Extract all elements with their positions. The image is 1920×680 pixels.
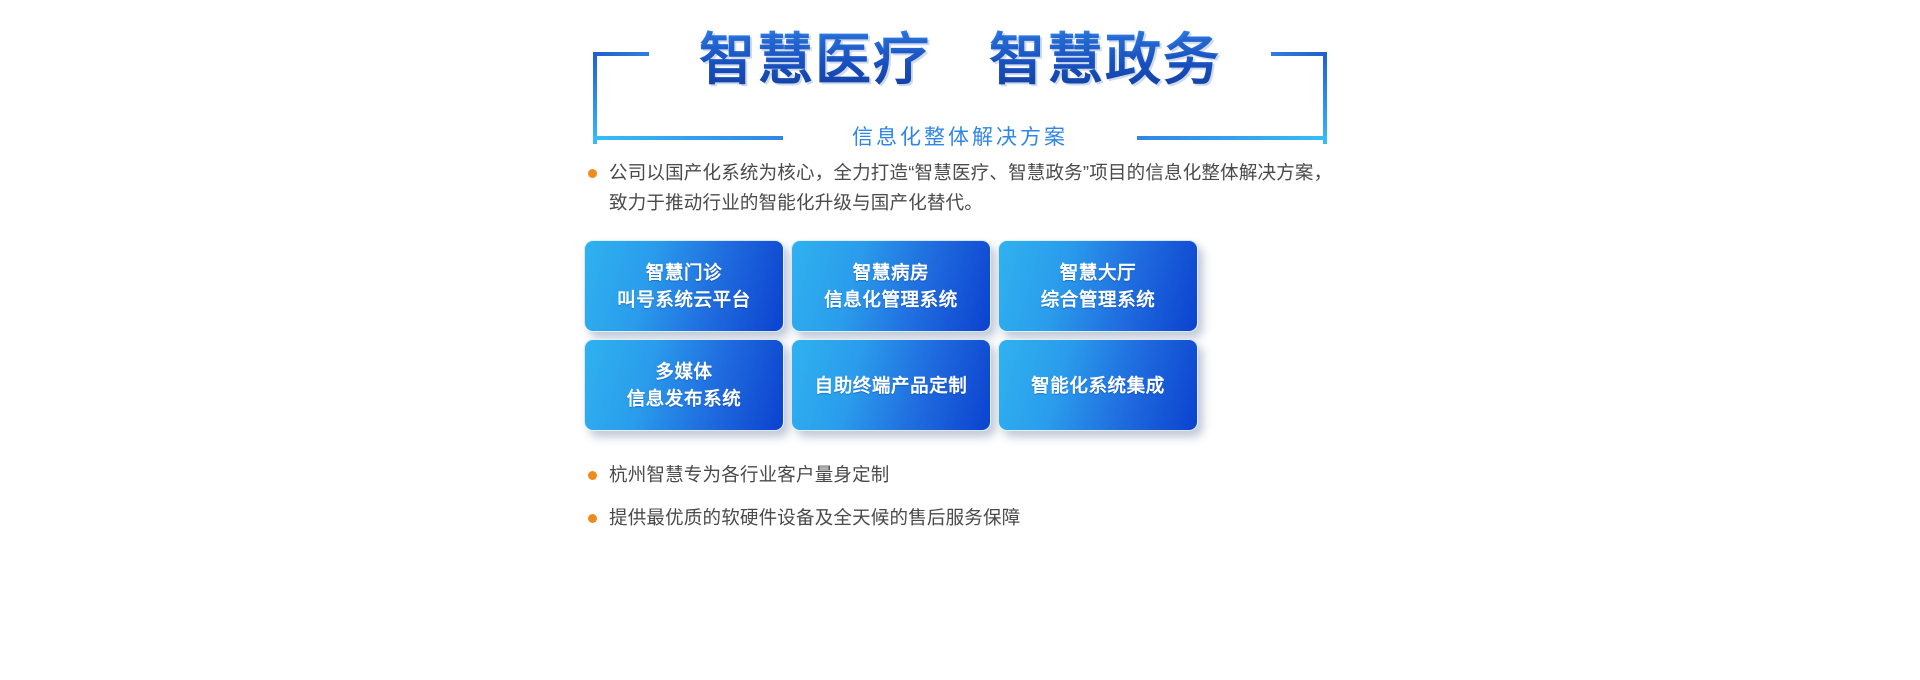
bullet-text: 提供最优质的软硬件设备及全天候的售后服务保障 <box>609 505 1020 531</box>
page-title: 智慧医疗 智慧政务 <box>580 28 1340 92</box>
solution-card[interactable]: 智慧大厅 综合管理系统 <box>998 240 1198 332</box>
content-column: 智慧医疗 智慧政务 信息化整体解决方案 公司以国产化系统为核心，全力打造“智慧医… <box>580 0 1340 680</box>
feature-bullet-list: 杭州智慧专为各行业客户量身定制 提供最优质的软硬件设备及全天候的售后服务保障 <box>588 462 1328 548</box>
list-item: 杭州智慧专为各行业客户量身定制 <box>588 462 1328 488</box>
card-line-2: 综合管理系统 <box>1041 286 1156 313</box>
intro-text: 公司以国产化系统为核心，全力打造“智慧医疗、智慧政务”项目的信息化整体解决方案，… <box>609 158 1340 218</box>
card-line-2: 信息化管理系统 <box>824 286 958 313</box>
card-line-1: 智能化系统集成 <box>1031 372 1165 399</box>
page-subtitle: 信息化整体解决方案 <box>580 127 1340 149</box>
promo-banner-page: 智慧医疗 智慧政务 信息化整体解决方案 公司以国产化系统为核心，全力打造“智慧医… <box>0 0 1920 680</box>
card-line-1: 智慧门诊 <box>646 259 722 286</box>
card-line-1: 智慧病房 <box>853 259 929 286</box>
card-line-2: 叫号系统云平台 <box>617 286 751 313</box>
solution-card[interactable]: 智能化系统集成 <box>998 339 1198 431</box>
card-line-1: 智慧大厅 <box>1060 259 1136 286</box>
heading-block: 智慧医疗 智慧政务 信息化整体解决方案 <box>580 18 1340 140</box>
bullet-dot-icon <box>588 169 597 178</box>
list-item: 提供最优质的软硬件设备及全天候的售后服务保障 <box>588 505 1328 531</box>
bullet-text: 杭州智慧专为各行业客户量身定制 <box>609 462 890 488</box>
card-line-1: 多媒体 <box>655 358 712 385</box>
intro-paragraph: 公司以国产化系统为核心，全力打造“智慧医疗、智慧政务”项目的信息化整体解决方案，… <box>580 158 1340 218</box>
solution-card[interactable]: 智慧病房 信息化管理系统 <box>791 240 991 332</box>
card-line-2: 信息发布系统 <box>627 385 742 412</box>
bullet-dot-icon <box>588 471 597 480</box>
solution-card[interactable]: 自助终端产品定制 <box>791 339 991 431</box>
solution-card[interactable]: 智慧门诊 叫号系统云平台 <box>584 240 784 332</box>
bullet-dot-icon <box>588 514 597 523</box>
card-line-1: 自助终端产品定制 <box>815 372 968 399</box>
solution-card[interactable]: 多媒体 信息发布系统 <box>584 339 784 431</box>
solution-card-grid: 智慧门诊 叫号系统云平台 智慧病房 信息化管理系统 智慧大厅 综合管理系统 多媒… <box>584 240 1209 431</box>
